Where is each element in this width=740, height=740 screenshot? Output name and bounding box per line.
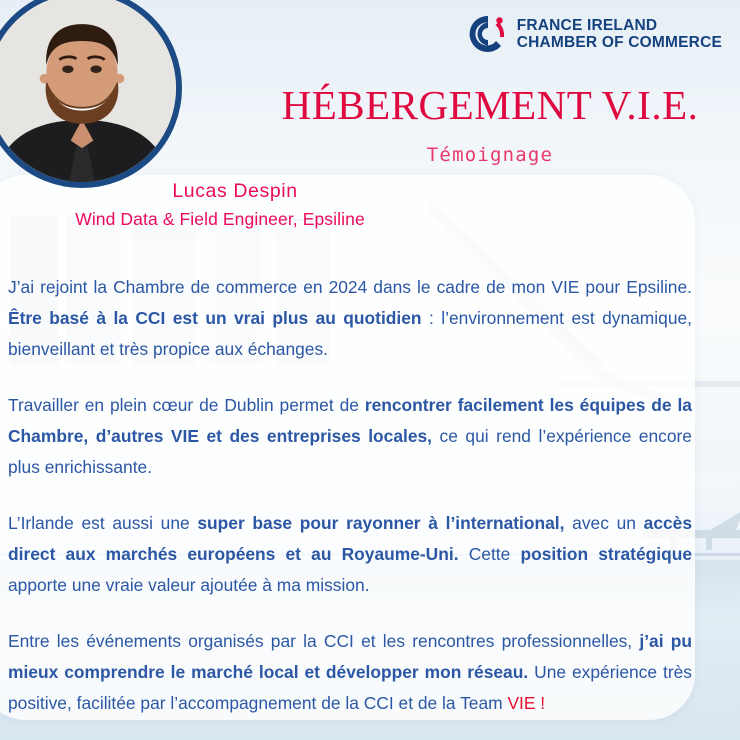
logo-line-1: FRANCE IRELAND — [517, 17, 722, 34]
page-subtitle: Témoignage — [250, 144, 730, 166]
person-name: Lucas Despin — [70, 180, 400, 203]
text-run: super base pour rayonner à l’internation… — [197, 513, 564, 533]
portrait-illustration — [0, 0, 176, 182]
person-role: Wind Data & Field Engineer, Epsiline — [40, 209, 400, 230]
testimonial-paragraph: Entre les événements organisés par la CC… — [8, 626, 692, 719]
testimonial-paragraph: Travailler en plein cœur de Dublin perme… — [8, 390, 692, 483]
chamber-logo[interactable]: FRANCE IRELAND CHAMBER OF COMMERCE — [468, 14, 722, 54]
testimonial-paragraph: J’ai rejoint la Chambre de commerce en 2… — [8, 272, 692, 365]
page-title: HÉBERGEMENT V.I.E. — [250, 85, 730, 126]
text-run: Travailler en plein cœur de Dublin perme… — [8, 395, 365, 415]
text-run: L’Irlande est aussi une — [8, 513, 197, 533]
testimonial-poster: FRANCE IRELAND CHAMBER OF COMMERCE HÉBER… — [0, 0, 740, 740]
text-run: VIE ! — [507, 693, 545, 713]
text-run: position stratégique — [520, 544, 692, 564]
logo-line-2: CHAMBER OF COMMERCE — [517, 34, 722, 51]
text-run: apporte une vraie valeur ajoutée à ma mi… — [8, 575, 370, 595]
cci-c-monogram-icon — [468, 14, 508, 54]
text-run: Cette — [459, 544, 521, 564]
text-run: Entre les événements organisés par la CC… — [8, 631, 639, 651]
avatar — [0, 0, 182, 188]
text-run: avec un — [564, 513, 643, 533]
text-run: J’ai rejoint la Chambre de commerce en 2… — [8, 277, 692, 297]
testimonial-paragraph: L’Irlande est aussi une super base pour … — [8, 508, 692, 601]
text-run: Être basé à la CCI est un vrai plus au q… — [8, 308, 422, 328]
testimonial-body: J’ai rejoint la Chambre de commerce en 2… — [8, 272, 692, 719]
logo-wordmark: FRANCE IRELAND CHAMBER OF COMMERCE — [517, 17, 722, 52]
